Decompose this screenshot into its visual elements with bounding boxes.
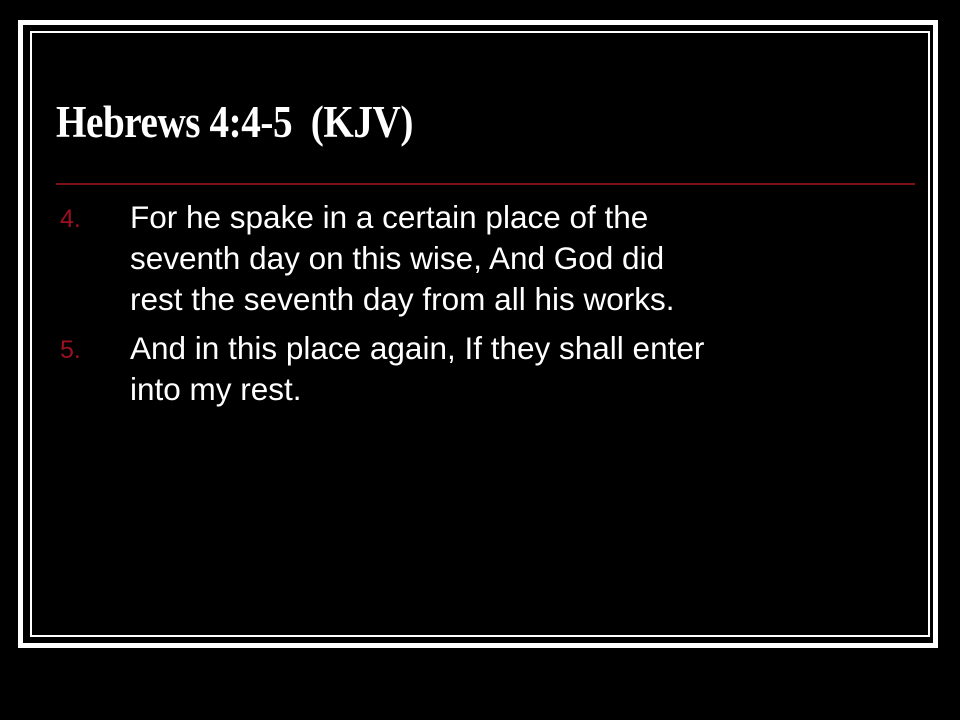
slide-content-area: Hebrews 4:4-5 (KJV) 4. For he spake in a…	[36, 37, 924, 631]
scripture-list: 4. For he spake in a certain place of th…	[52, 197, 912, 418]
list-item-marker: 4.	[60, 199, 108, 240]
list-item: 4. For he spake in a certain place of th…	[52, 197, 912, 320]
list-item-text: For he spake in a certain place of the s…	[130, 197, 912, 320]
list-item-marker: 5.	[60, 330, 108, 371]
list-item-text: And in this place again, If they shall e…	[130, 328, 912, 410]
slide-title: Hebrews 4:4-5 (KJV)	[56, 99, 413, 146]
list-item: 5. And in this place again, If they shal…	[52, 328, 912, 410]
presentation-slide: Hebrews 4:4-5 (KJV) 4. For he spake in a…	[0, 0, 960, 720]
title-divider-rule	[56, 183, 915, 185]
